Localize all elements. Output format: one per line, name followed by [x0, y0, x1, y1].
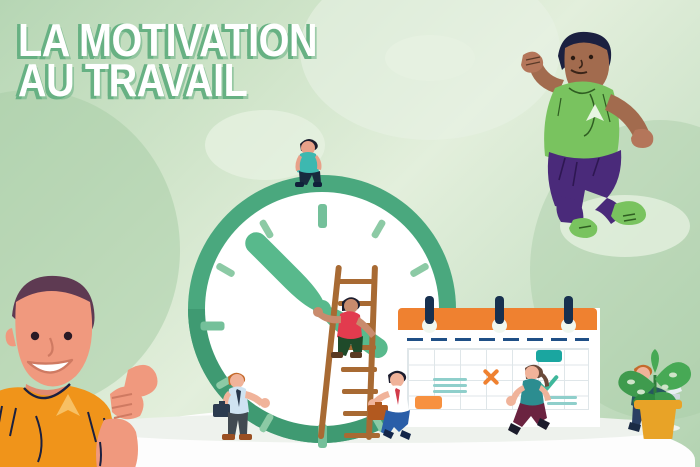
calendar-ring	[564, 296, 573, 324]
calendar-ring	[425, 296, 434, 324]
character-clock-sitter	[286, 132, 332, 190]
calendar-text-line	[433, 378, 467, 381]
calendar-text-line	[433, 384, 467, 387]
poster-canvas: LA MOTIVATION AU TRAVAIL	[0, 0, 700, 467]
plant-pot	[637, 405, 679, 439]
clock-tick	[318, 204, 327, 228]
calendar-dashed-divider	[407, 338, 589, 341]
clock-tick	[409, 262, 430, 278]
character-running-woman	[495, 360, 567, 446]
ladder-rung	[337, 279, 373, 284]
title-line-2: AU TRAVAIL	[18, 60, 317, 100]
calendar-text-line	[433, 390, 467, 393]
page-title: LA MOTIVATION AU TRAVAIL	[18, 20, 317, 101]
character-businessman-left	[211, 368, 273, 446]
clock-tick	[200, 322, 224, 331]
character-jumping-man	[495, 18, 670, 243]
prop-monstera-plant	[615, 345, 695, 440]
calendar-ring	[495, 296, 504, 324]
clock-tick	[370, 219, 386, 240]
character-businessman-center	[362, 366, 428, 446]
character-thumbs-up-man	[0, 198, 177, 467]
cloud-shape	[385, 35, 475, 81]
clock-tick	[215, 262, 236, 278]
